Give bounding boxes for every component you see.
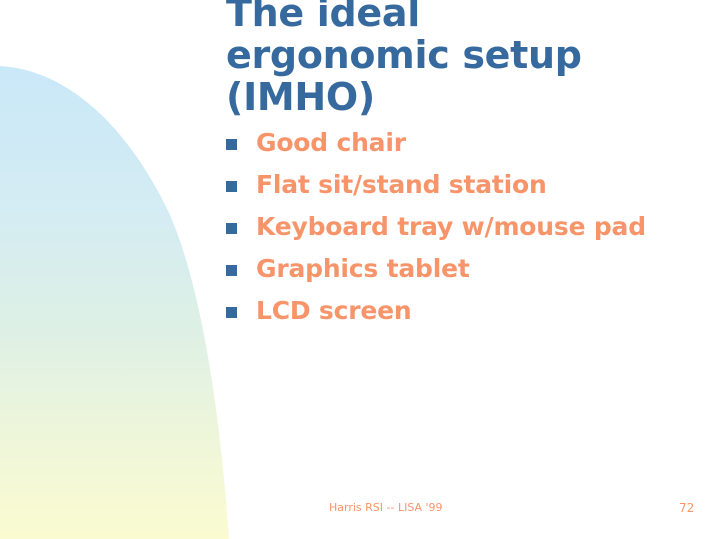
list-item-label: LCD screen (256, 297, 411, 325)
list-item-label: Flat sit/stand station (256, 171, 547, 199)
title-line-1: The ideal (226, 0, 696, 34)
curved-gradient-shape (0, 0, 240, 539)
square-bullet-icon (226, 307, 237, 318)
square-bullet-icon (226, 139, 237, 150)
square-bullet-icon (226, 265, 237, 276)
list-item-label: Graphics tablet (256, 255, 470, 283)
list-item: Good chair (226, 122, 696, 164)
bullet-list: Good chair Flat sit/stand station Keyboa… (226, 122, 696, 332)
slide-title: The ideal ergonomic setup (IMHO) (226, 0, 696, 118)
square-bullet-icon (226, 223, 237, 234)
list-item: LCD screen (226, 290, 696, 332)
page-number: 72 (679, 501, 694, 515)
presentation-slide: The ideal ergonomic setup (IMHO) Good ch… (0, 0, 719, 539)
footer-note: Harris RSI -- LISA '99 (329, 501, 443, 515)
list-item: Flat sit/stand station (226, 164, 696, 206)
square-bullet-icon (226, 181, 237, 192)
title-line-3: (IMHO) (226, 76, 696, 118)
title-line-2: ergonomic setup (226, 34, 696, 76)
list-item: Keyboard tray w/mouse pad (226, 206, 696, 248)
list-item: Graphics tablet (226, 248, 696, 290)
list-item-label: Keyboard tray w/mouse pad (256, 213, 646, 241)
list-item-label: Good chair (256, 129, 406, 157)
